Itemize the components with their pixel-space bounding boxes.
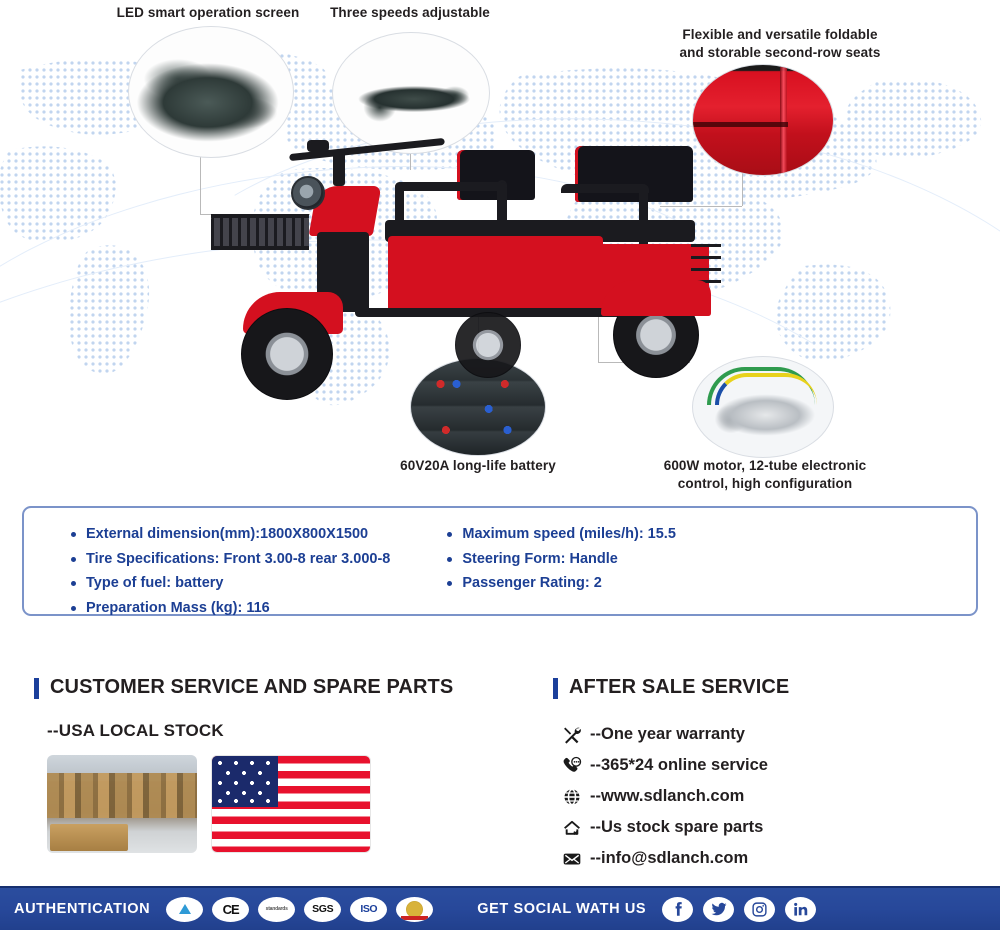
callout-foldable-seats: Flexible and versatile foldable and stor…: [640, 26, 920, 62]
spec-column-left: External dimension(mm):1800X800X1500 Tir…: [24, 522, 390, 620]
ce-badge[interactable]: CE: [212, 897, 249, 922]
home-icon: [561, 817, 583, 839]
cargo-body: [388, 236, 603, 314]
spec-item: Maximum speed (miles/h): 15.5: [462, 522, 676, 547]
handlebar-stem: [333, 152, 345, 186]
callout-motor-line1: 600W motor, 12-tube electronic: [664, 458, 867, 473]
facebook-icon[interactable]: [662, 897, 693, 922]
spec-item: Type of fuel: battery: [86, 571, 390, 596]
iso-badge[interactable]: ISO: [350, 897, 387, 922]
grab-bar-top-rear: [561, 184, 649, 193]
warehouse-photo: [47, 755, 197, 853]
wrench-icon: [561, 724, 583, 746]
rear-rack: [691, 244, 721, 247]
social-links: [662, 897, 816, 922]
spec-item: Steering Form: Handle: [462, 547, 676, 572]
globe-icon: [561, 786, 583, 808]
rear-fender: [601, 280, 711, 316]
callout-battery: 60V20A long-life battery: [358, 457, 598, 475]
standards-badge[interactable]: standards: [258, 897, 295, 922]
service-item-warranty: --One year warranty: [561, 719, 973, 750]
stock-media-row: [47, 755, 534, 853]
service-item-label: --www.sdlanch.com: [590, 787, 744, 806]
service-item-label: --info@sdlanch.com: [590, 849, 748, 868]
service-item-label: --One year warranty: [590, 725, 745, 744]
customer-service-column: CUSTOMER SERVICE AND SPARE PARTS --USA L…: [34, 676, 534, 853]
service-item-website: --www.sdlanch.com: [561, 781, 973, 812]
service-item-email: --info@sdlanch.com: [561, 843, 973, 874]
instagram-icon[interactable]: [744, 897, 775, 922]
service-item-online-support: --365*24 online service: [561, 750, 973, 781]
after-sale-service-title: AFTER SALE SERVICE: [553, 676, 973, 699]
callout-foldable-seats-line2: and storable second-row seats: [680, 45, 881, 60]
after-sale-service-list: --One year warranty --365*24 online serv…: [561, 719, 973, 874]
certification-badges: CE standards SGS ISO: [166, 897, 433, 922]
callout-motor: 600W motor, 12-tube electronic control, …: [620, 457, 910, 493]
sgs-badge[interactable]: SGS: [304, 897, 341, 922]
get-social-label: GET SOCIAL WATH US: [477, 901, 646, 917]
footer-bar: AUTHENTICATION CE standards SGS ISO GET …: [0, 886, 1000, 930]
wheel-front: [241, 308, 333, 400]
product-image-electric-tricycle: [205, 140, 725, 405]
seat-back-front: [457, 150, 535, 200]
photo-led-screen: [128, 26, 294, 158]
flag-canton: [212, 756, 278, 807]
usa-local-stock-label: --USA LOCAL STOCK: [47, 721, 534, 741]
gold-seal-badge[interactable]: [396, 897, 433, 922]
seal-base: [401, 916, 428, 920]
alibaba-badge[interactable]: [166, 897, 203, 922]
callout-foldable-seats-line1: Flexible and versatile foldable: [682, 27, 877, 42]
spec-item: Preparation Mass (kg): 116: [86, 596, 390, 621]
mirror-mount: [307, 140, 329, 152]
spec-column-right: Maximum speed (miles/h): 15.5 Steering F…: [390, 522, 676, 620]
grab-bar-top: [395, 182, 507, 191]
callout-motor-line2: control, high configuration: [678, 476, 852, 491]
twitter-icon[interactable]: [703, 897, 734, 922]
spec-item: Passenger Rating: 2: [462, 571, 676, 596]
front-basket-frame: [211, 246, 309, 250]
phone-support-icon: [561, 755, 583, 777]
callout-three-speeds: Three speeds adjustable: [310, 4, 510, 22]
customer-service-title: CUSTOMER SERVICE AND SPARE PARTS: [34, 676, 534, 699]
rear-rack: [691, 268, 721, 271]
rear-rack: [691, 256, 721, 259]
service-item-label: --Us stock spare parts: [590, 818, 763, 837]
headlight-icon: [291, 176, 325, 210]
spec-item: Tire Specifications: Front 3.00-8 rear 3…: [86, 547, 390, 572]
service-item-label: --365*24 online service: [590, 756, 768, 775]
callout-led-screen: LED smart operation screen: [88, 4, 328, 22]
spec-item: External dimension(mm):1800X800X1500: [86, 522, 390, 547]
front-basket: [211, 216, 309, 250]
wheel-rear-inner: [455, 312, 521, 378]
front-basket-frame: [211, 214, 309, 218]
seat-back-rear: [575, 146, 693, 202]
authentication-label: AUTHENTICATION: [14, 901, 150, 917]
linkedin-icon[interactable]: [785, 897, 816, 922]
specifications-box: External dimension(mm):1800X800X1500 Tir…: [22, 506, 978, 616]
usa-flag-icon: [211, 755, 371, 853]
triangle-logo-icon: [179, 904, 191, 914]
photo-handlebar-speeds: [332, 32, 490, 154]
hero-section: LED smart operation screen Three speeds …: [0, 0, 1000, 500]
service-item-spare-parts: --Us stock spare parts: [561, 812, 973, 843]
after-sale-service-column: AFTER SALE SERVICE --One year warranty: [553, 676, 973, 874]
envelope-icon: [561, 848, 583, 870]
service-section: CUSTOMER SERVICE AND SPARE PARTS --USA L…: [0, 676, 1000, 886]
